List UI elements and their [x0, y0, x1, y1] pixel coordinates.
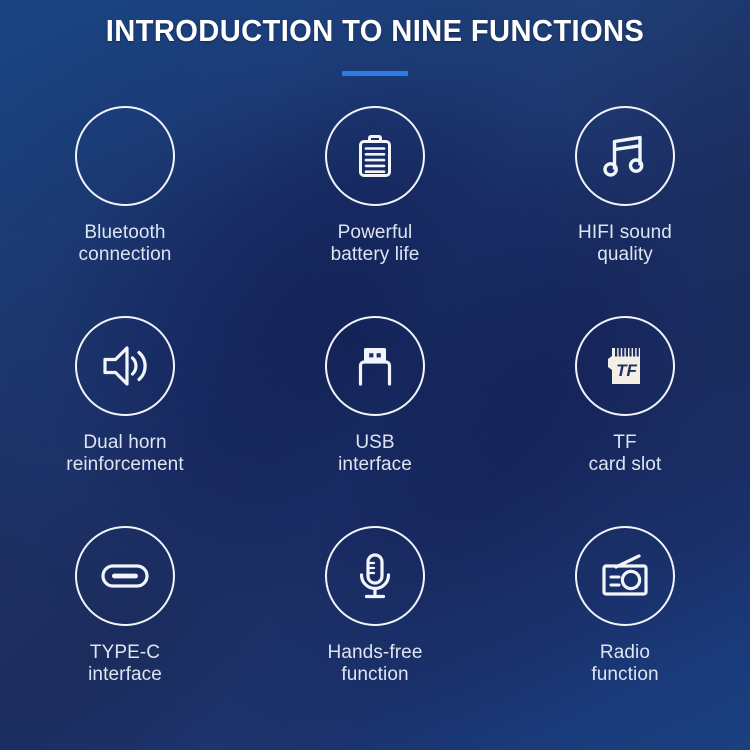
- icon-circle: [325, 316, 425, 416]
- radio-icon: [595, 546, 655, 606]
- icon-circle: [75, 106, 175, 206]
- feature-item-radio[interactable]: Radio function: [510, 526, 740, 736]
- icon-circle: [75, 316, 175, 416]
- icon-circle: [325, 106, 425, 206]
- feature-label-line2: quality: [578, 244, 672, 266]
- feature-label-line1: Dual horn: [83, 432, 166, 453]
- feature-label: HIFI sound quality: [578, 222, 672, 267]
- feature-item-hands-free[interactable]: Hands-free function: [260, 526, 490, 736]
- feature-label: USB interface: [338, 432, 412, 477]
- feature-label-line2: function: [591, 664, 658, 686]
- accent-divider: [342, 71, 408, 76]
- feature-label-line2: card slot: [589, 454, 662, 476]
- feature-label-line1: Powerful: [338, 222, 413, 243]
- feature-item-dual-horn[interactable]: Dual horn reinforcement: [10, 316, 240, 526]
- icon-circle: [325, 526, 425, 626]
- tf-card-label: TF: [616, 361, 637, 380]
- feature-label: TYPE-C interface: [88, 642, 162, 687]
- page-title: INTRODUCTION TO NINE FUNCTIONS: [23, 0, 728, 49]
- feature-item-tf-card[interactable]: TF TF card slot: [510, 316, 740, 526]
- feature-label-line1: TYPE-C: [90, 642, 160, 663]
- feature-label: Radio function: [591, 642, 658, 687]
- icon-circle: [75, 526, 175, 626]
- feature-item-type-c[interactable]: TYPE-C interface: [10, 526, 240, 736]
- feature-label-line2: connection: [79, 244, 172, 266]
- feature-label-line2: interface: [338, 454, 412, 476]
- feature-label-line2: function: [328, 664, 423, 686]
- feature-item-battery[interactable]: Powerful battery life: [260, 106, 490, 316]
- feature-label-line2: interface: [88, 664, 162, 686]
- feature-label: Hands-free function: [328, 642, 423, 687]
- feature-item-usb[interactable]: USB interface: [260, 316, 490, 526]
- feature-label-line1: Radio: [600, 642, 650, 663]
- music-note-icon: [597, 128, 653, 184]
- promo-panel: INTRODUCTION TO NINE FUNCTIONS Bluetooth…: [0, 0, 750, 750]
- tf-card-icon: TF: [596, 337, 654, 395]
- battery-icon: [347, 128, 403, 184]
- feature-label: Bluetooth connection: [79, 222, 172, 267]
- header: INTRODUCTION TO NINE FUNCTIONS: [0, 0, 750, 76]
- feature-label: TF card slot: [589, 432, 662, 477]
- feature-item-bluetooth[interactable]: Bluetooth connection: [10, 106, 240, 316]
- feature-item-hifi[interactable]: HIFI sound quality: [510, 106, 740, 316]
- usb-icon: [347, 338, 403, 394]
- feature-label-line1: TF: [613, 432, 636, 453]
- feature-label-line2: battery life: [331, 244, 420, 266]
- feature-label: Powerful battery life: [331, 222, 420, 267]
- feature-label: Dual horn reinforcement: [66, 432, 183, 477]
- microphone-icon: [347, 548, 403, 604]
- feature-grid: Bluetooth connection: [0, 106, 750, 736]
- icon-circle: TF: [575, 316, 675, 416]
- usb-type-c-icon: [95, 546, 155, 606]
- icon-circle: [575, 526, 675, 626]
- speaker-icon: [96, 337, 154, 395]
- icon-circle: [575, 106, 675, 206]
- feature-label-line1: HIFI sound: [578, 222, 672, 243]
- feature-label-line1: Hands-free: [328, 642, 423, 663]
- feature-label-line2: reinforcement: [66, 454, 183, 476]
- feature-label-line1: Bluetooth: [84, 222, 165, 243]
- feature-label-line1: USB: [355, 432, 394, 453]
